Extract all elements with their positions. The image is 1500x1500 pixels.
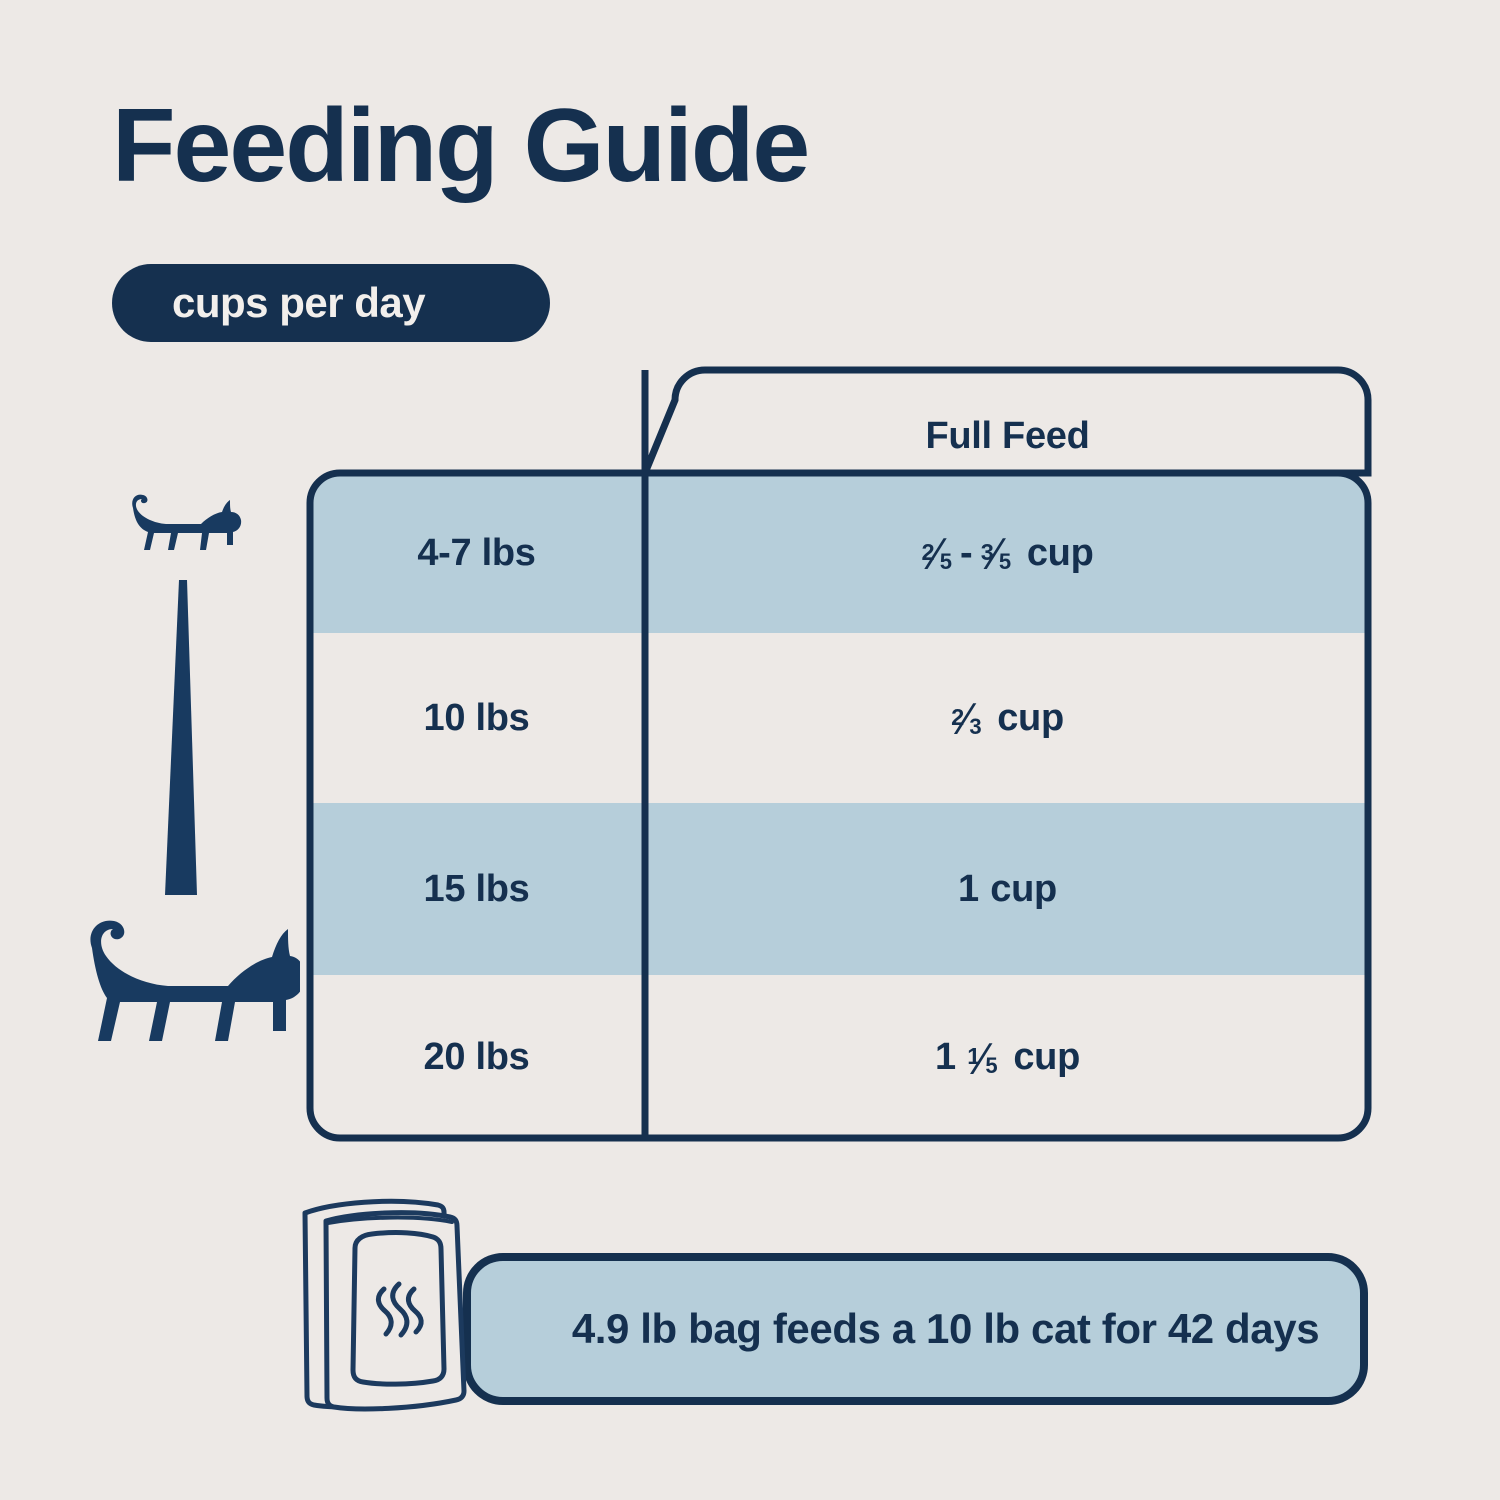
fraction-numerator: 3 (981, 539, 994, 566)
amount-unit: cup (1027, 532, 1094, 575)
cat-silhouette-large (90, 921, 300, 1041)
fraction-numerator: 1 (967, 1043, 980, 1070)
column-header-full-feed: Full Feed (645, 400, 1370, 473)
table-row-weight: 15 lbs (308, 803, 645, 975)
cat-silhouette-small (132, 495, 241, 550)
fraction-numerator: 2 (951, 704, 964, 731)
fraction-denominator: 5 (999, 549, 1011, 575)
table-row-weight: 10 lbs (308, 633, 645, 803)
page-title: Feeding Guide (112, 94, 808, 198)
subtitle-badge-label: cups per day (172, 279, 425, 327)
table-row-amount: 1 1⁄5 cup (645, 975, 1370, 1140)
food-bag-illustration (292, 1193, 492, 1415)
fraction-value: 2⁄5 (921, 527, 951, 579)
infographic-canvas: Feeding Guide cups per day (0, 0, 1500, 1500)
whole-number: 1 (958, 868, 979, 911)
table-row-weight: 4-7 lbs (308, 473, 645, 633)
amount-unit: cup (990, 868, 1057, 911)
table-row-weight: 20 lbs (308, 975, 645, 1140)
fraction-denominator: 5 (940, 549, 952, 575)
amount-unit: cup (997, 697, 1064, 740)
table-row-amount: 1 cup (645, 803, 1370, 975)
fraction-denominator: 5 (985, 1053, 997, 1079)
table-row-amount: 2⁄5 - 3⁄5 cup (645, 473, 1370, 633)
range-dash: - (960, 532, 972, 575)
fraction-numerator: 2 (921, 539, 934, 566)
amount-unit: cup (1013, 1036, 1080, 1079)
fraction-value: 1⁄5 (967, 1032, 997, 1084)
size-scale-wedge (165, 580, 197, 895)
bag-duration-banner: 4.9 lb bag feeds a 10 lb cat for 42 days (463, 1253, 1368, 1405)
subtitle-badge: cups per day (112, 264, 550, 342)
fraction-denominator: 3 (969, 714, 981, 740)
size-scale-illustration (70, 470, 300, 1130)
table-row-amount: 2⁄3 cup (645, 633, 1370, 803)
fraction-value: 2⁄3 (951, 692, 981, 744)
feeding-table: Full Feed 4-7 lbs 2⁄5 - 3⁄5 cup 10 lbs 2… (308, 368, 1370, 1140)
bag-duration-text: 4.9 lb bag feeds a 10 lb cat for 42 days (512, 1305, 1319, 1353)
fraction-value-upper: 3⁄5 (981, 527, 1011, 579)
whole-number: 1 (935, 1036, 956, 1079)
